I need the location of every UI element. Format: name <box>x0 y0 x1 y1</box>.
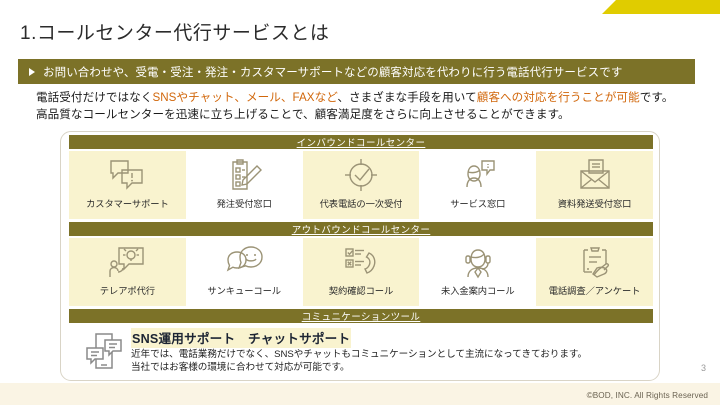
body-line1-part-a: 電話受付だけではなく <box>36 91 152 104</box>
service-tile-customer-support[interactable]: カスタマーサポート <box>69 151 186 219</box>
body-line-2: 高品質なコールセンターを迅速に立ち上げることで、顧客満足度をさらに向上させること… <box>36 106 674 123</box>
body-paragraphs: 電話受付だけではなくSNSやチャット、メール、FAXなど、さまざまな手段を用いて… <box>36 89 674 123</box>
chat-bubbles-alert-icon <box>69 155 186 195</box>
service-tile-label: サンキューコール <box>207 283 281 297</box>
body-line1-highlight-1: SNSやチャット、メール、FAXなど <box>152 91 337 104</box>
service-tile-label: カスタマーサポート <box>86 196 169 210</box>
smartphone-chat-icon <box>81 328 127 372</box>
copyright-text: ©BOD, INC. All Rights Reserved <box>587 391 708 400</box>
communication-text-group: SNS運用サポート チャットサポート 近年では、電話業務だけでなく、SNSやチャ… <box>127 328 587 374</box>
check-circle-icon <box>303 155 420 195</box>
section-header-communication-label: コミュニケーションツール <box>302 309 421 323</box>
communication-line-2: 当社ではお客様の環境に合わせて対応が可能です。 <box>131 361 587 374</box>
section-header-inbound-label: インバウンドコールセンター <box>297 135 426 149</box>
section-header-outbound: アウトバウンドコールセンター <box>69 222 653 236</box>
service-tile-document-dispatch-desk[interactable]: 資料発送受付窓口 <box>536 151 653 219</box>
service-tile-first-call-reception[interactable]: 代表電話の一次受付 <box>303 151 420 219</box>
envelope-document-icon <box>536 155 653 195</box>
lead-statement-bar: お問い合わせや、受電・受注・発注・カスタマーサポートなどの顧客対応を代わりに行う… <box>18 59 695 84</box>
service-tile-phone-survey[interactable]: 電話調査／アンケート <box>536 238 653 306</box>
section-header-inbound: インバウンドコールセンター <box>69 135 653 149</box>
body-line1-part-c: 、さまざまな手段を用いて <box>337 91 476 104</box>
service-tile-label: 契約確認コール <box>329 283 393 297</box>
inbound-tile-row: カスタマーサポート 発注受付窓口 <box>69 151 653 219</box>
headset-operator-icon <box>419 242 536 282</box>
lead-statement-text: お問い合わせや、受電・受注・発注・カスタマーサポートなどの顧客対応を代わりに行う… <box>43 64 622 80</box>
page-number: 3 <box>701 363 706 373</box>
operator-info-bubble-icon <box>419 155 536 195</box>
survey-clipboard-hand-icon <box>536 242 653 282</box>
triangle-right-icon <box>29 68 35 76</box>
page-title: 1.コールセンター代行サービスとは <box>20 18 329 45</box>
service-tile-telemarketing[interactable]: テレアポ代行 <box>69 238 186 306</box>
service-tile-payment-reminder-call[interactable]: 未入金案内コール <box>419 238 536 306</box>
body-line1-part-e: です。 <box>640 91 674 104</box>
body-line-1: 電話受付だけではなくSNSやチャット、メール、FAXなど、さまざまな手段を用いて… <box>36 89 674 106</box>
checklist-handset-icon <box>303 242 420 282</box>
service-tile-label: 代表電話の一次受付 <box>320 196 403 210</box>
service-tile-label: テレアポ代行 <box>100 283 155 297</box>
top-right-accent-shape <box>602 0 720 14</box>
clipboard-pencil-icon <box>186 155 303 195</box>
service-tile-label: サービス窓口 <box>450 196 505 210</box>
communication-line-1: 近年では、電話業務だけでなく、SNSやチャットもコミュニケーションとして主流にな… <box>131 348 587 361</box>
service-tile-thank-you-call[interactable]: サンキューコール <box>186 238 303 306</box>
communication-tools-block: SNS運用サポート チャットサポート 近年では、電話業務だけでなく、SNSやチャ… <box>69 326 653 376</box>
smiley-chat-bubbles-icon <box>186 242 303 282</box>
services-card: インバウンドコールセンター カスタマーサポート <box>60 131 660 381</box>
section-header-communication: コミュニケーションツール <box>69 309 653 323</box>
person-lightbulb-idea-icon <box>69 242 186 282</box>
service-tile-label: 未入金案内コール <box>441 283 515 297</box>
communication-title: SNS運用サポート チャットサポート <box>131 328 351 348</box>
outbound-tile-row: テレアポ代行 サンキューコール <box>69 238 653 306</box>
service-tile-label: 発注受付窓口 <box>217 196 272 210</box>
service-tile-service-desk[interactable]: サービス窓口 <box>419 151 536 219</box>
service-tile-label: 資料発送受付窓口 <box>558 196 632 210</box>
section-header-outbound-label: アウトバウンドコールセンター <box>292 222 431 236</box>
body-line1-highlight-2: 顧客への対応を行うことが可能 <box>477 91 640 104</box>
service-tile-order-desk[interactable]: 発注受付窓口 <box>186 151 303 219</box>
service-tile-label: 電話調査／アンケート <box>549 283 641 297</box>
service-tile-contract-confirmation-call[interactable]: 契約確認コール <box>303 238 420 306</box>
